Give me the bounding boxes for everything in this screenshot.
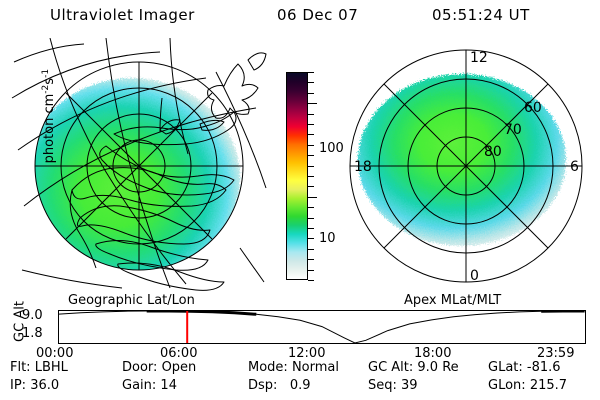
mlat-mlt-grid xyxy=(350,50,582,282)
mlat-label-70: 70 xyxy=(504,122,522,138)
status-glat-value: -81.6 xyxy=(527,360,561,375)
timeline-xtick-2: 12:00 xyxy=(288,346,325,361)
status-gain: Gain: 14 xyxy=(122,378,177,393)
timeline-canvas xyxy=(58,310,586,344)
mlt-label-18: 18 xyxy=(354,159,372,175)
header: Ultraviolet Imager 06 Dec 07 05:51:24 UT xyxy=(0,6,600,30)
status-glat-label: GLat: xyxy=(488,360,523,375)
status-mode: Mode: Normal xyxy=(248,360,339,375)
status-flt-value: LBHL xyxy=(35,360,68,375)
observation-date: 06 Dec 07 xyxy=(277,6,358,24)
colorbar-gradient xyxy=(287,73,307,279)
colorbar-title-mid: s xyxy=(42,78,57,85)
status-mode-value: Normal xyxy=(292,360,339,375)
observation-time: 05:51:24 UT xyxy=(432,6,530,24)
status-flt: Flt: LBHL xyxy=(10,360,68,375)
timeline-xtick-3: 18:00 xyxy=(414,346,451,361)
uvi-display: Ultraviolet Imager 06 Dec 07 05:51:24 UT xyxy=(0,0,600,400)
colorbar-title-base: photon cm xyxy=(42,94,57,164)
mlt-label-6: 6 xyxy=(570,159,579,175)
mlat-label-60: 60 xyxy=(524,100,542,116)
status-seq: Seq: 39 xyxy=(368,378,418,393)
colorbar-title-exp2: -1 xyxy=(41,69,51,78)
orbit-timeline[interactable]: GC Alt 9.0 1.8 00:00 06:00 12:00 18:00 2… xyxy=(0,300,600,358)
colorbar-ticks xyxy=(308,72,314,280)
status-block: Flt: LBHL Door: Open Mode: Normal GC Alt… xyxy=(0,360,600,400)
status-door-value: Open xyxy=(162,360,197,375)
status-glon: GLon: 215.7 xyxy=(488,378,567,393)
status-glon-label: GLon: xyxy=(488,378,526,393)
status-gcalt: GC Alt: 9.0 Re xyxy=(368,360,459,375)
timeline-plot-area[interactable] xyxy=(58,310,586,344)
mlt-label-12: 12 xyxy=(470,50,488,66)
mlat-label-80: 80 xyxy=(484,144,502,160)
colorbar-tick-10: 10 xyxy=(319,231,336,246)
status-ip-value: 36.0 xyxy=(30,378,59,393)
timeline-ytick-top: 9.0 xyxy=(22,308,43,323)
status-mode-label: Mode: xyxy=(248,360,288,375)
timeline-xtick-0: 00:00 xyxy=(36,346,73,361)
status-ip-label: IP: xyxy=(10,378,26,393)
instrument-title: Ultraviolet Imager xyxy=(50,6,195,24)
status-door: Door: Open xyxy=(122,360,196,375)
timeline-xtick-4: 23:59 xyxy=(537,346,574,361)
apex-plot[interactable]: 12 6 0 18 60 70 80 xyxy=(338,38,594,294)
status-ip: IP: 36.0 xyxy=(10,378,59,393)
status-dsp-value: 0.9 xyxy=(290,378,311,393)
status-glon-value: 215.7 xyxy=(530,378,567,393)
colorbar-axis-title: photon cm-2s-1 xyxy=(41,31,57,201)
status-row-2: IP: 36.0 Gain: 14 Dsp: 0.9 Seq: 39 GLon:… xyxy=(0,378,600,397)
mlt-label-0: 0 xyxy=(470,268,479,284)
timeline-ytick-bottom: 1.8 xyxy=(22,326,43,341)
apex-plot-canvas: 12 6 0 18 60 70 80 xyxy=(338,38,594,294)
timeline-xtick-1: 06:00 xyxy=(160,346,197,361)
status-door-label: Door: xyxy=(122,360,157,375)
status-row-1: Flt: LBHL Door: Open Mode: Normal GC Alt… xyxy=(0,360,600,379)
status-gain-label: Gain: xyxy=(122,378,156,393)
status-seq-value: 39 xyxy=(401,378,418,393)
colorbar-title-exp1: -2 xyxy=(41,85,51,94)
status-seq-label: Seq: xyxy=(368,378,397,393)
orbit-observation-segment-a xyxy=(147,311,257,314)
status-dsp-label: Dsp: xyxy=(248,378,277,393)
status-glat: GLat: -81.6 xyxy=(488,360,561,375)
status-dsp: Dsp: 0.9 xyxy=(248,378,311,393)
colorbar xyxy=(286,72,308,280)
status-gain-value: 14 xyxy=(160,378,177,393)
status-gcalt-value: 9.0 Re xyxy=(417,360,458,375)
status-gcalt-label: GC Alt: xyxy=(368,360,413,375)
status-flt-label: Flt: xyxy=(10,360,31,375)
orbit-altitude-curve xyxy=(59,311,585,343)
